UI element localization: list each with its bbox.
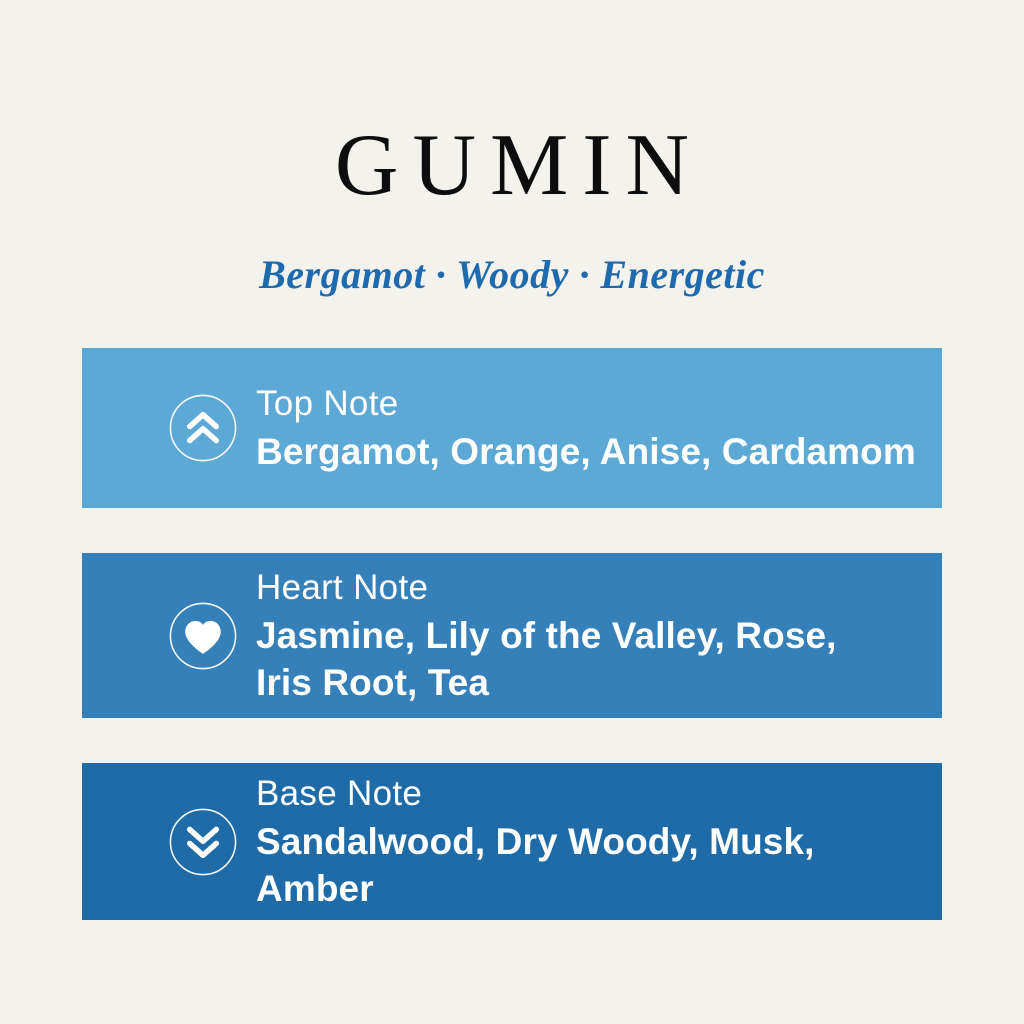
note-band-heart: Heart Note Jasmine, Lily of the Valley, … (82, 553, 942, 718)
note-icon-wrap-top (150, 391, 256, 465)
note-label-base: Base Note (256, 772, 926, 815)
note-values-heart: Jasmine, Lily of the Valley, Rose, Iris … (256, 612, 866, 706)
chevron-double-down-icon (166, 805, 240, 879)
note-label-heart: Heart Note (256, 566, 926, 609)
note-values-base: Sandalwood, Dry Woody, Musk, Amber (256, 818, 926, 912)
chevron-double-up-icon (166, 391, 240, 465)
note-text-base: Base Note Sandalwood, Dry Woody, Musk, A… (256, 772, 942, 912)
fragrance-note-pyramid-poster: GUMIN Bergamot · Woody · Energetic Top N… (0, 0, 1024, 1024)
brand-title: GUMIN (0, 118, 1024, 214)
note-band-base: Base Note Sandalwood, Dry Woody, Musk, A… (82, 763, 942, 920)
brand-subtitle: Bergamot · Woody · Energetic (0, 250, 1024, 300)
note-icon-wrap-heart (150, 599, 256, 673)
note-label-top: Top Note (256, 382, 926, 425)
note-text-heart: Heart Note Jasmine, Lily of the Valley, … (256, 566, 942, 706)
note-band-top: Top Note Bergamot, Orange, Anise, Cardam… (82, 348, 942, 508)
note-values-top: Bergamot, Orange, Anise, Cardamom (256, 428, 926, 475)
heart-icon (166, 599, 240, 673)
note-text-top: Top Note Bergamot, Orange, Anise, Cardam… (256, 382, 942, 475)
note-icon-wrap-base (150, 805, 256, 879)
